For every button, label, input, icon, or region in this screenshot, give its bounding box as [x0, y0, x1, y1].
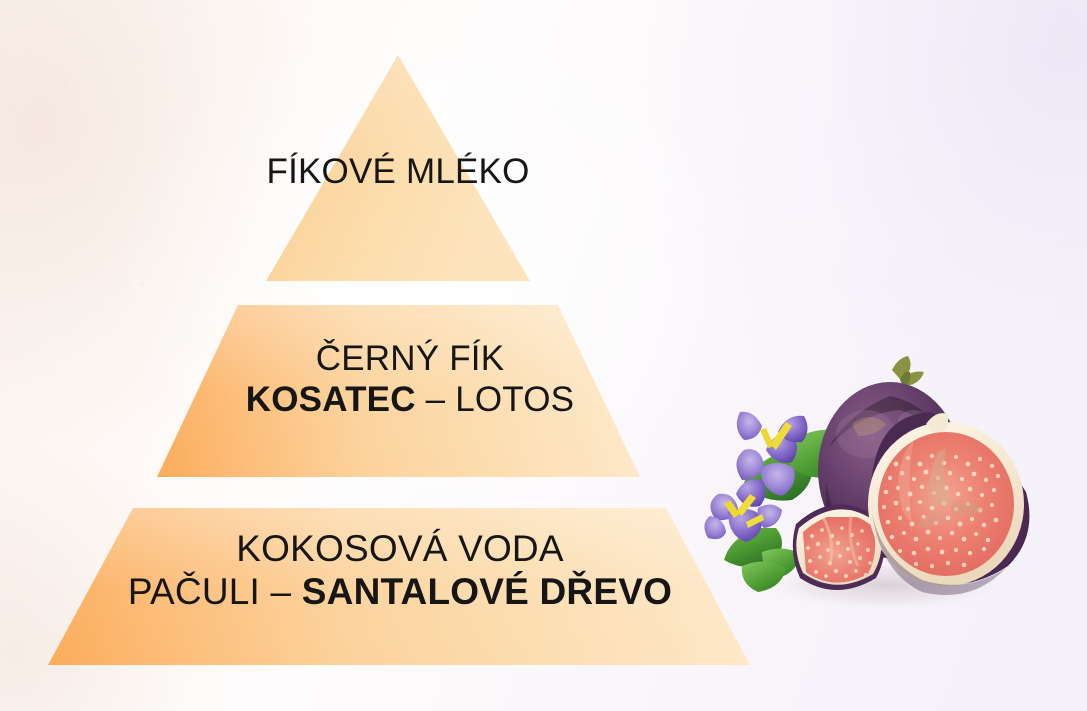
heart-note-separator: –: [416, 380, 456, 419]
heart-note-line-1: ČERNÝ FÍK: [110, 339, 710, 380]
base-note-separator: –: [260, 571, 302, 612]
top-note-line-1: FÍKOVÉ MLÉKO: [148, 152, 648, 193]
heart-note-line-2: KOSATEC – LOTOS: [110, 380, 710, 421]
halved-fig: [868, 412, 1030, 595]
tier-label-base-note: KOKOSOVÁ VODA PAČULI – SANTALOVÉ DŘEVO: [40, 528, 760, 614]
base-note-line-1: KOKOSOVÁ VODA: [40, 528, 760, 571]
base-note-regular-part: PAČULI: [128, 571, 260, 612]
tier-label-heart-note: ČERNÝ FÍK KOSATEC – LOTOS: [110, 339, 710, 420]
heart-note-regular-part: LOTOS: [455, 380, 574, 419]
heart-note-bold-part: KOSATEC: [246, 380, 416, 419]
base-note-bold-part: SANTALOVÉ DŘEVO: [302, 571, 672, 612]
tier-label-top-note: FÍKOVÉ MLÉKO: [148, 152, 648, 193]
figs-and-violets-photo: [700, 352, 1048, 642]
fragrance-pyramid-slide: FÍKOVÉ MLÉKO ČERNÝ FÍK KOSATEC – LOTOS K…: [0, 0, 1087, 711]
base-note-line-2: PAČULI – SANTALOVÉ DŘEVO: [40, 571, 760, 614]
